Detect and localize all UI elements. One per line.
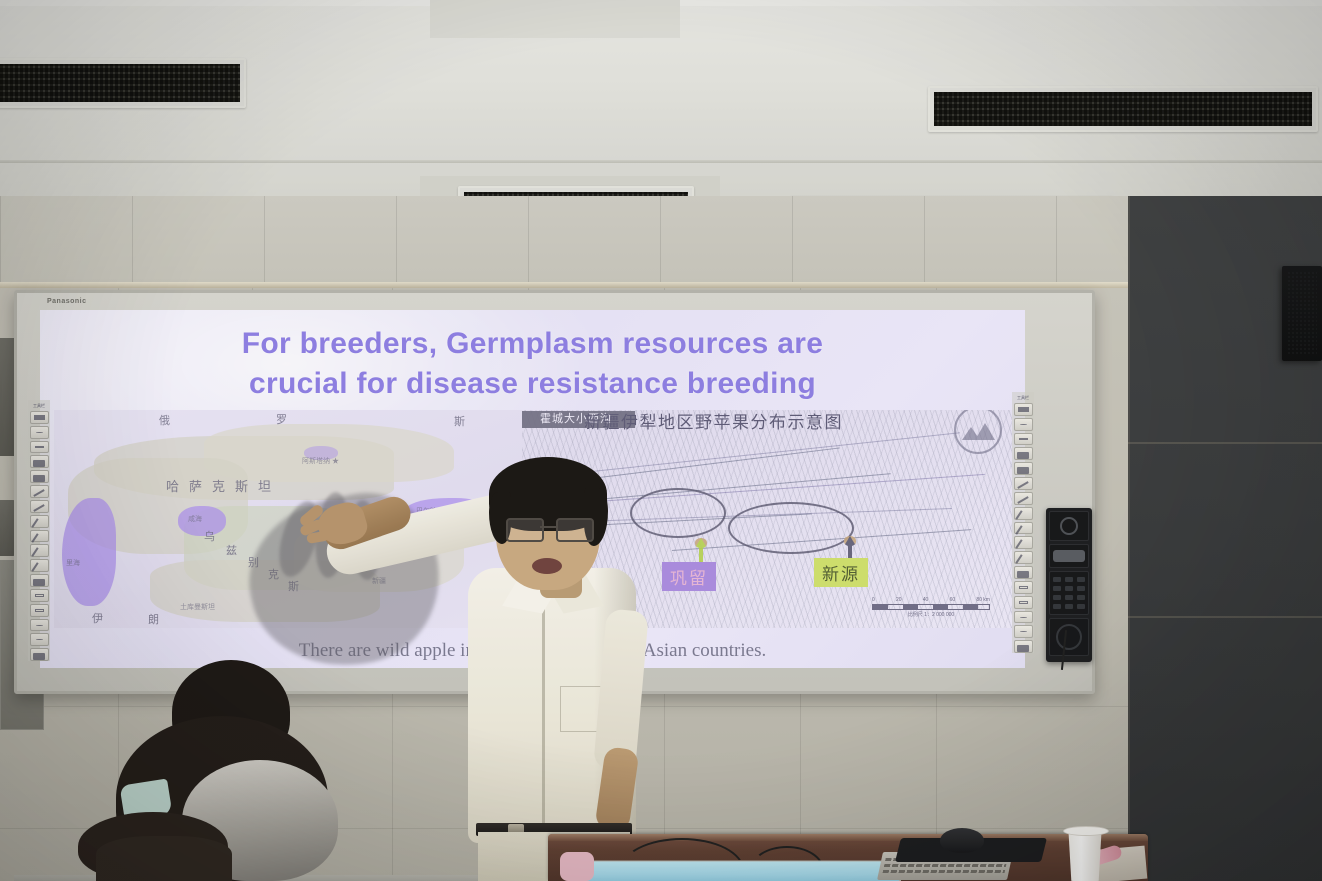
eraser-tool-button[interactable] [30,530,49,543]
paper-cup-rim [1063,826,1109,836]
map-label: 斯 [454,413,465,429]
ceiling-seam [0,160,1322,163]
brush-tool-button[interactable] [30,559,49,572]
pen-tool-button[interactable] [1014,477,1033,490]
annotation-ellipse-xinyuan [728,502,854,554]
aral-sea [178,506,226,536]
monitor-tool-button[interactable] [30,574,49,587]
scale-tick: 60 [950,597,956,603]
text-tool-button[interactable] [30,589,49,602]
brush-tool-button[interactable] [1014,551,1033,564]
eraser-tool-button[interactable] [1014,522,1033,535]
lecture-hall-photo: Panasonic For breeders, Germplasm resour… [0,0,1322,881]
save-tool-button[interactable] [1014,596,1033,609]
presenter-glasses [506,518,592,538]
undo-tool-button[interactable] [1014,418,1033,431]
keyboard-tool-button[interactable] [30,648,49,661]
map-label: 俄 [159,412,170,428]
jog-dial[interactable] [1049,618,1089,656]
shape-tool-button[interactable] [1014,536,1033,549]
map-label-xinyuan: 新源 [814,558,868,587]
arrow-left-tool-button[interactable] [1014,462,1033,475]
mouse[interactable] [940,828,984,853]
gear-tool-button[interactable] [30,633,49,646]
highlighter-tool-button[interactable] [1014,507,1033,520]
slide-title-line-1: For breeders, Germplasm resources are [40,324,1025,364]
map-label: 乌 [204,528,215,544]
map-label: 哈萨克斯坦 [166,476,281,495]
camera-tool-button[interactable] [30,619,49,632]
scale-tick: 80 km [976,597,990,603]
map-label: 罗 [276,411,287,427]
vent-grill [0,64,240,102]
arrow-right-tool-button[interactable] [30,455,49,468]
select-tool-button[interactable] [30,411,49,424]
pink-object-left [560,852,594,881]
page-tool-button[interactable] [1014,433,1033,446]
ceiling-beam [430,0,680,38]
source-keypad[interactable] [1049,571,1089,615]
scale-tick: 0 [872,597,875,603]
arrow-right-tool-button[interactable] [1014,447,1033,460]
audience-shoulder [96,836,232,881]
monitor-tool-button[interactable] [1014,566,1033,579]
toolbar-header: 工具栏 [1017,395,1029,401]
undo-tool-button[interactable] [30,426,49,439]
shape-tool-button[interactable] [30,544,49,557]
page-tool-button[interactable] [30,441,49,454]
vent-grill [934,92,1312,126]
av-control-panel[interactable] [1046,508,1092,662]
presenter-mouth [532,558,562,574]
map-label: 伊 [92,610,103,626]
scale-caption: 比例尺 1：2 000 000 [872,611,990,618]
desk-edge [548,834,1148,841]
mountain-icon [975,423,995,440]
map-label-gongliu: 巩留 [662,562,716,591]
map-label: 土库曼斯坦 [180,602,215,612]
map-scale-bar: 0 20 40 60 80 km 比例尺 1：2 000 000 [872,597,990,618]
scale-tick: 20 [896,597,902,603]
touch-indicator-icon [1049,544,1089,568]
select-tool-button[interactable] [1014,403,1033,416]
wall-tile-seams [0,196,1322,288]
presenter-head [496,466,600,590]
whiteboard-brand-label: Panasonic [47,298,87,305]
map-label: 咸海 [188,514,202,524]
slide-title: For breeders, Germplasm resources are cr… [40,324,1025,404]
wall-speaker [1282,266,1322,361]
shirt-placket [542,590,545,840]
map-label: 兹 [226,542,237,558]
whiteboard-right-toolbar[interactable]: 工具栏 [1012,392,1034,653]
air-vent-right [928,86,1318,132]
annotation-ellipse-gongliu [630,488,726,538]
caspian-sea [62,498,116,606]
keyboard-tool-button[interactable] [1014,640,1033,653]
speaker-grill [1287,271,1317,356]
pen-tool-button[interactable] [30,485,49,498]
map-header-title: 新疆伊犁地区野苹果分布示意图 [584,410,843,433]
marker-tool-button[interactable] [1014,492,1033,505]
marker-tool-button[interactable] [30,500,49,513]
text-tool-button[interactable] [1014,581,1033,594]
upper-wall [0,196,1322,288]
gear-tool-button[interactable] [1014,625,1033,638]
toolbar-header: 工具栏 [33,403,45,409]
slide-title-line-2: crucial for disease resistance breeding [40,364,1025,404]
laptop[interactable] [570,860,904,881]
scale-tick: 40 [923,597,929,603]
power-button[interactable] [1049,511,1089,541]
highlighter-tool-button[interactable] [30,515,49,528]
save-tool-button[interactable] [30,604,49,617]
whiteboard-left-toolbar[interactable]: 工具栏 [28,400,50,661]
air-vent-left [0,58,246,108]
arrow-left-tool-button[interactable] [30,470,49,483]
scale-bar-graphic [872,604,990,610]
presenter [300,460,640,881]
annotation-arrow-gongliu [698,538,703,562]
map-label: 朗 [148,611,159,627]
map-label: 里海 [66,558,80,568]
camera-tool-button[interactable] [1014,611,1033,624]
